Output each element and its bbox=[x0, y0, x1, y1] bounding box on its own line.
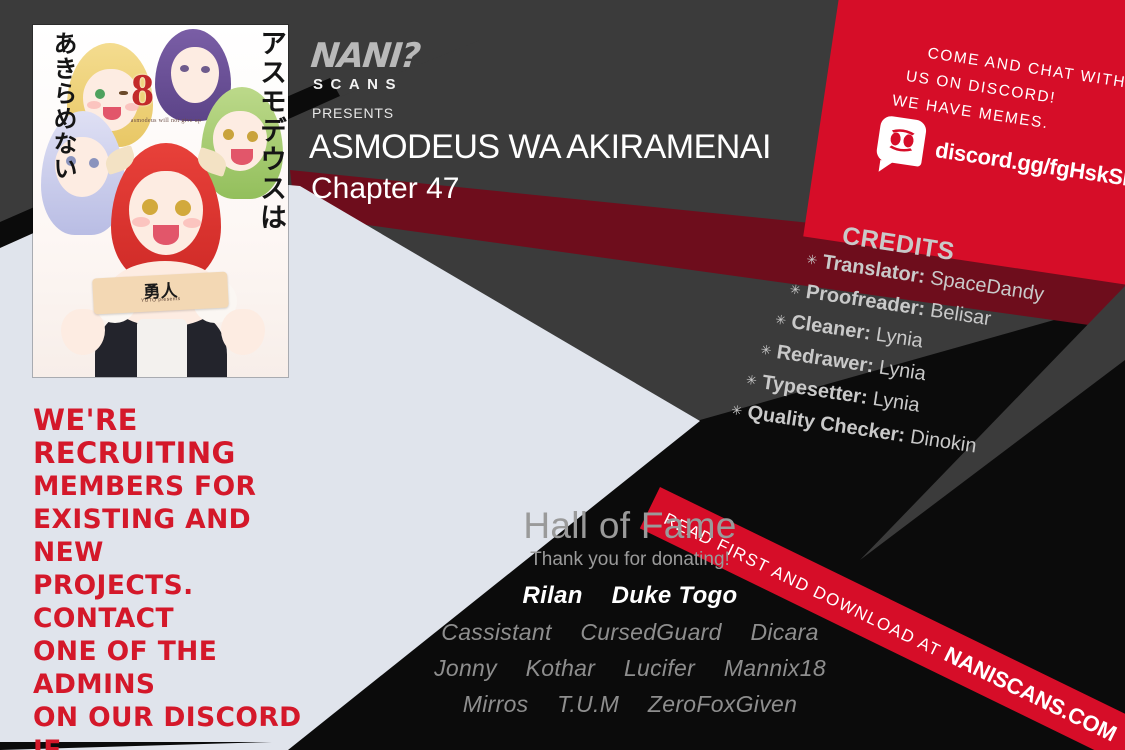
credit-bullet-icon: ✳ bbox=[805, 252, 818, 268]
donor-name: Duke Togo bbox=[612, 582, 738, 609]
cover-volume-number: 8 bbox=[131, 67, 154, 113]
cover-title-band: 勇人 YUTO presents bbox=[92, 271, 229, 314]
recruiting-line: WE'RE RECRUITING bbox=[33, 404, 318, 470]
recruiting-notice: WE'RE RECRUITING MEMBERS FOR EXISTING AN… bbox=[33, 404, 318, 750]
donor-name: Lucifer bbox=[624, 655, 695, 681]
credit-bullet-icon: ✳ bbox=[730, 402, 743, 418]
character-eye bbox=[89, 158, 99, 168]
character-eye bbox=[201, 66, 210, 73]
credits-page: 勇人 YUTO presents 8 asmodeus will not giv… bbox=[0, 0, 1125, 750]
donor-row: Cassistant CursedGuard Dicara bbox=[420, 619, 840, 646]
donor-row: Jonny Kothar Lucifer Mannix18 bbox=[420, 655, 840, 682]
manga-cover-image[interactable]: 勇人 YUTO presents 8 asmodeus will not giv… bbox=[33, 25, 288, 377]
recruiting-line: PROJECTS. CONTACT bbox=[33, 569, 318, 635]
donor-name: Rilan bbox=[523, 582, 583, 609]
chapter-label: Chapter 47 bbox=[311, 172, 459, 206]
cover-volume-romaji: asmodeus will not give up bbox=[121, 117, 211, 126]
credit-role: Redrawer: bbox=[775, 341, 875, 377]
cover-artwork: 勇人 YUTO presents 8 asmodeus will not giv… bbox=[33, 25, 288, 377]
nani-scans-wordmark: SCANS bbox=[313, 76, 403, 93]
character-mouth bbox=[103, 107, 121, 120]
hall-of-fame-section: Hall of Fame Thank you for donating! Ril… bbox=[420, 505, 840, 718]
donor-name: Jonny bbox=[434, 655, 497, 681]
presents-label: PRESENTS bbox=[312, 105, 394, 121]
donor-row: Mirros T.U.M ZeroFoxGiven bbox=[420, 691, 840, 718]
recruiting-line: ONE OF THE ADMINS bbox=[33, 635, 318, 701]
credit-bullet-icon: ✳ bbox=[745, 372, 758, 388]
recruiting-line: ON OUR DISCORD IF bbox=[33, 701, 318, 750]
hall-of-fame-subtitle: Thank you for donating! bbox=[420, 549, 840, 571]
discord-icon bbox=[875, 115, 927, 167]
donor-name: CursedGuard bbox=[580, 619, 721, 645]
credit-bullet-icon: ✳ bbox=[789, 281, 802, 297]
character-eye bbox=[223, 129, 234, 140]
credit-bullet-icon: ✳ bbox=[760, 342, 773, 358]
credit-bullet-icon: ✳ bbox=[774, 312, 787, 328]
donor-name: Mannix18 bbox=[724, 655, 826, 681]
donor-name: T.U.M bbox=[557, 691, 619, 717]
credit-name: Lynia bbox=[875, 324, 925, 353]
character-blush bbox=[132, 217, 150, 227]
character-eye bbox=[175, 200, 191, 216]
credit-name: Dinokin bbox=[909, 426, 978, 458]
page-title: ASMODEUS WA AKIRAMENAI bbox=[309, 128, 771, 167]
character-eye bbox=[119, 91, 128, 95]
credit-name: Belisar bbox=[929, 299, 993, 330]
cover-japanese-subtitle: あきらめない bbox=[39, 31, 75, 231]
credit-role: Typesetter: bbox=[761, 371, 869, 408]
recruiting-line: EXISTING AND NEW bbox=[33, 503, 318, 569]
credit-name: Lynia bbox=[878, 357, 928, 386]
credit-name: SpaceDandy bbox=[929, 267, 1046, 306]
credit-role: Cleaner: bbox=[790, 311, 872, 345]
hall-of-fame-title: Hall of Fame bbox=[420, 505, 840, 547]
nani-scans-logo[interactable]: NANI? bbox=[309, 36, 421, 76]
credit-name: Lynia bbox=[871, 388, 921, 417]
top-donor-row: Rilan Duke Togo bbox=[420, 582, 840, 610]
character-apron bbox=[137, 319, 187, 377]
character-blush bbox=[183, 218, 201, 228]
discord-invite-url[interactable]: discord.gg/fgHskSD bbox=[934, 137, 1125, 193]
donor-name: Dicara bbox=[750, 619, 818, 645]
donor-name: Kothar bbox=[526, 655, 596, 681]
donor-name: Mirros bbox=[463, 691, 529, 717]
donor-name: ZeroFoxGiven bbox=[648, 691, 797, 717]
cover-japanese-title: アスモデウスは bbox=[242, 29, 284, 329]
character-eye bbox=[142, 199, 158, 215]
character-mouth bbox=[153, 225, 179, 245]
character-eye bbox=[180, 65, 189, 72]
recruiting-line: MEMBERS FOR bbox=[33, 470, 318, 503]
donor-name: Cassistant bbox=[441, 619, 551, 645]
character-eye bbox=[95, 89, 105, 99]
character-blush bbox=[87, 101, 101, 109]
